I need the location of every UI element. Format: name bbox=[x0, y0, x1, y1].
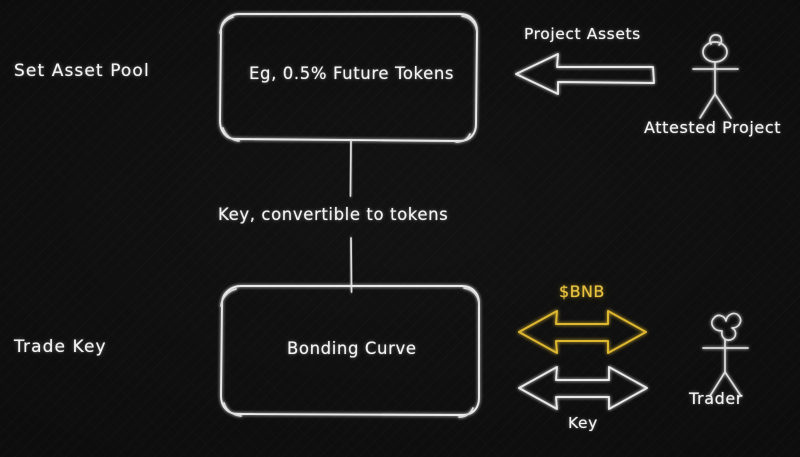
section-label-trade-key: Trade Key bbox=[14, 337, 107, 357]
asset-pool-box-label: Eg, 0.5% Future Tokens bbox=[249, 64, 454, 83]
bnb-arrow-label: $BNB bbox=[559, 282, 605, 301]
trader-label: Trader bbox=[689, 389, 743, 408]
bonding-curve-box-label: Bonding Curve bbox=[287, 339, 417, 358]
key-arrow-label: Key bbox=[568, 414, 598, 432]
text-layer: Set Asset Pool Eg, 0.5% Future Tokens Pr… bbox=[0, 0, 800, 457]
section-label-set-asset-pool: Set Asset Pool bbox=[14, 61, 150, 81]
connector-label: Key, convertible to tokens bbox=[218, 205, 448, 224]
diagram-canvas: Set Asset Pool Eg, 0.5% Future Tokens Pr… bbox=[0, 0, 800, 457]
attested-project-label: Attested Project bbox=[644, 118, 781, 137]
project-assets-arrow-label: Project Assets bbox=[524, 25, 641, 43]
